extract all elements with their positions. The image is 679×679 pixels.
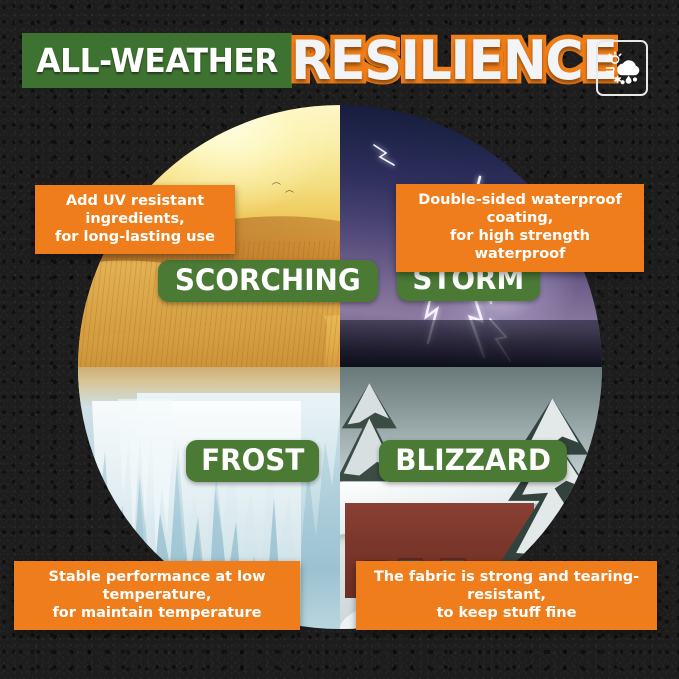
headline-green-band: ALL-WEATHER xyxy=(22,33,292,88)
caption-text-frost: Stable performance at low temperature, f… xyxy=(26,568,288,622)
caption-text-storm: Double-sided waterproof coating, for hig… xyxy=(408,191,632,264)
label-chip-blizzard: BLIZZARD xyxy=(379,440,567,482)
label-chip-scorching: SCORCHING xyxy=(158,260,378,302)
caption-text-blizzard: The fabric is strong and tearing-resista… xyxy=(368,568,645,622)
caption-banner-frost: Stable performance at low temperature, f… xyxy=(14,561,300,630)
storm-horizon xyxy=(340,320,602,367)
header: ALL-WEATHER RESILIENCE xyxy=(0,0,679,110)
caption-banner-blizzard: The fabric is strong and tearing-resista… xyxy=(356,561,657,630)
weather-badge xyxy=(596,40,648,96)
sun-cloud-wind-rain-icon xyxy=(602,48,642,88)
caption-text-scorching: Add UV resistant ingredients, for long-l… xyxy=(47,192,223,246)
headline-resilience: RESILIENCE xyxy=(291,29,616,92)
label-frost: FROST xyxy=(201,443,304,477)
label-chip-frost: FROST xyxy=(186,440,319,482)
bird-icon: ︵ xyxy=(285,186,294,195)
label-scorching: SCORCHING xyxy=(175,263,361,297)
bird-icon: ︵ xyxy=(272,178,281,187)
caption-banner-storm: Double-sided waterproof coating, for hig… xyxy=(396,184,644,272)
caption-banner-scorching: Add UV resistant ingredients, for long-l… xyxy=(35,185,235,254)
label-blizzard: BLIZZARD xyxy=(395,443,551,477)
headline-resilience-wrap: RESILIENCE xyxy=(286,22,586,98)
headline-all-weather: ALL-WEATHER xyxy=(36,41,278,80)
